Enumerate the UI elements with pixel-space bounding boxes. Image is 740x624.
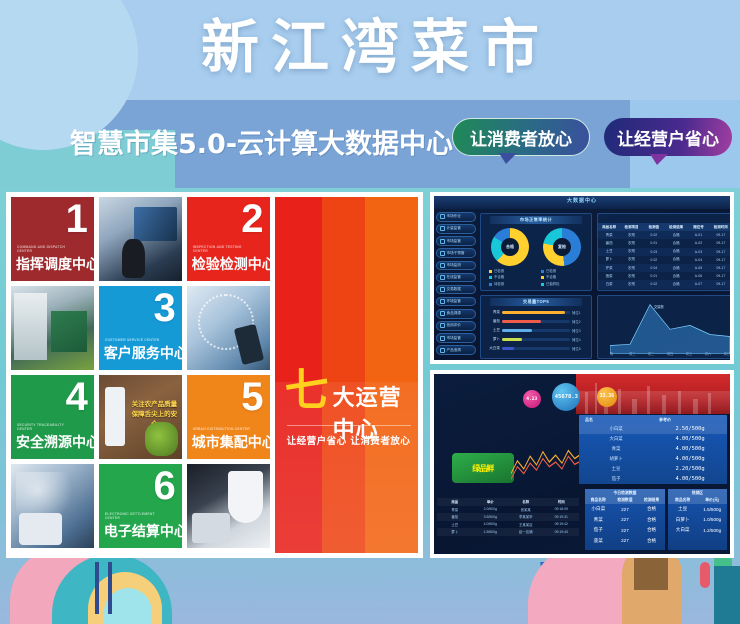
center-6-number: 6	[153, 466, 175, 506]
kpi-2-value: 45678.3	[555, 394, 578, 400]
center-6-label: 电子结算中心	[104, 521, 182, 541]
poster-header: 新江湾菜市 智慧市集5.0-云计算大数据中心 让消费者放心 让经营户省心	[0, 0, 740, 188]
transactions-cell: 青菜	[437, 507, 473, 512]
checks-cell: 227	[612, 538, 639, 543]
table-cell: 番茄	[598, 241, 620, 246]
hot-table-title: 热销区	[668, 489, 727, 497]
hot-row: 白萝卜1.0/500g	[668, 515, 727, 526]
checks-table-header: 商品名称检测数值检测结果	[585, 497, 665, 504]
hot-cell: 白萝卜	[668, 517, 698, 523]
bar-value: 摊位5	[572, 346, 590, 351]
axis-tick-label: 周一	[610, 351, 616, 356]
table-cell: 0.01	[643, 274, 665, 278]
bar-row: 土豆 摊位3	[484, 326, 590, 335]
table-row: 菠菜农残0.01合格A-0609-17	[598, 272, 730, 280]
center-tile-6[interactable]: 6 ELECTRONIC SETTLEMENT CENTER 电子结算中心	[99, 464, 182, 548]
detection-table-card: 商品名称检测项目检测值检测结果摊位号检测时间青菜农残0.02合格A-0109-1…	[597, 213, 730, 291]
bar-row: 萝卜 摊位4	[484, 335, 590, 344]
price-row-value: 4.00/500g	[653, 476, 727, 482]
table-cell: 0.02	[643, 282, 665, 286]
donut-chart-1: 合格	[491, 228, 529, 266]
table-cell: 合格	[665, 266, 687, 271]
skyline-building	[647, 386, 650, 414]
sidebar-item-label: 环境监管	[447, 299, 461, 304]
skyline-building	[708, 393, 711, 414]
table-cell: 合格	[665, 282, 687, 287]
ops-subtitle: 让经营户省心 让消费者放心	[287, 433, 411, 447]
price-row-name: 青菜	[579, 446, 653, 452]
table-cell: 菠菜	[598, 274, 620, 279]
transactions-cell: 09:18:09	[544, 507, 580, 511]
table-cell: 白菜	[598, 282, 620, 287]
transactions-row: 萝卜1.5/500g赵一店铺09:19:43	[437, 528, 579, 536]
center-4-number: 4	[66, 377, 88, 417]
table-cell: 09-17	[710, 258, 730, 262]
table-cell: A-06	[687, 274, 709, 278]
badge-consumer-label: 让消费者放心	[470, 125, 572, 150]
price-list-card: 品名 参考价 小白菜 2.50/500g 大白菜 4.00/500g 青菜 4.…	[579, 415, 727, 483]
price-row-value: 4.00/500g	[653, 446, 727, 452]
price-row[interactable]: 大白菜 4.00/500g	[579, 434, 727, 444]
photo-mobile-network	[187, 286, 270, 370]
table-cell: 0.02	[643, 233, 665, 237]
checks-cell: 合格	[638, 527, 665, 533]
sidebar-item-label: 在线监管	[447, 275, 461, 280]
bar-fill	[502, 329, 532, 332]
checks-cell: 227	[612, 528, 639, 533]
bar-track	[502, 338, 570, 341]
sidebar-item-icon	[440, 239, 445, 244]
price-row-name: 小白菜	[579, 426, 653, 432]
sidebar-item[interactable]: 计量监管	[436, 224, 476, 234]
bar-label: 萝卜	[484, 337, 500, 342]
checks-cell: 茄子	[585, 527, 612, 533]
sidebar-item-icon	[440, 336, 445, 341]
checks-cell: 227	[612, 507, 639, 512]
dashboard-top-screen: 大数据中心 市场作业 计量监管 市场监管 市场干预管 市场监测 在线监管 交易数…	[434, 196, 730, 360]
hot-table-header: 商品名称单价(元)	[668, 497, 727, 504]
transactions-header-cell: 时间	[544, 499, 580, 504]
dashboard-top-panel: 大数据中心 市场作业 计量监管 市场监管 市场干预管 市场监测 在线监管 交易数…	[430, 192, 734, 364]
hot-table-card: 热销区 商品名称单价(元) 土豆1.5/500g白萝卜1.0/500g大白菜1.…	[668, 489, 727, 550]
dashboard-header-bar: 大数据中心	[434, 196, 730, 209]
table-cell: 农残	[620, 233, 642, 238]
table-row: 萝卜农残0.02合格A-0409-17	[598, 256, 730, 264]
centers-panel: 1 COMMAND AND DISPATCH CENTER 指挥调度中心 2 I…	[6, 192, 423, 558]
price-col-name: 品名	[579, 415, 653, 424]
price-row-name: 土豆	[579, 466, 653, 472]
sidebar-item-label: 市场监管	[447, 239, 461, 244]
skyline-building	[678, 391, 681, 414]
center-6-english: ELECTRONIC SETTLEMENT CENTER	[105, 512, 167, 521]
donut-1-legend: 已检测不合格待检测	[489, 268, 504, 287]
hot-row: 土豆1.5/500g	[668, 504, 727, 515]
sidebar-item[interactable]: 信用评价	[436, 321, 476, 331]
center-1-label: 指挥调度中心	[16, 254, 94, 274]
table-cell: 合格	[665, 274, 687, 279]
bar-label: 大白菜	[484, 346, 500, 351]
food-safety-slogan: 关注农产品质量 保障舌尖上的安全	[130, 400, 178, 429]
table-row: 土豆农残0.03合格A-0309-17	[598, 248, 730, 256]
hot-cell: 大白菜	[668, 527, 698, 533]
ops-divider	[287, 425, 411, 426]
sidebar-item[interactable]: 市场干预管	[436, 248, 476, 258]
transactions-cell: 李某某甲	[508, 514, 544, 519]
table-cell: 农残	[620, 274, 642, 279]
table-cell: A-01	[687, 233, 709, 237]
sidebar-item[interactable]: 交易数据	[436, 285, 476, 295]
price-row-value: 4.00/500g	[653, 456, 727, 462]
kpi-bubble-1: 4.23	[523, 390, 541, 408]
transactions-cell: 3.5/500g	[472, 515, 508, 519]
table-cell: 09-17	[710, 282, 730, 286]
table-cell: A-04	[687, 258, 709, 262]
photo-network-people	[11, 464, 94, 548]
page-subtitle: 智慧市集5.0-云计算大数据中心	[70, 122, 453, 161]
table-cell: 青菜	[598, 233, 620, 238]
bar-track	[502, 311, 570, 314]
checks-cell: 合格	[638, 538, 665, 544]
sidebar-item-icon	[440, 214, 445, 219]
sidebar-item[interactable]: 市场监测	[436, 261, 476, 271]
center-4-english: SECURITY TRACEABILITY CENTER	[17, 423, 79, 432]
bar-chart: 青菜 摊位1 番茄 摊位2 土豆 摊位3 萝卜 摊位4 大白菜 摊位5	[484, 308, 590, 353]
table-cell: 0.02	[643, 258, 665, 262]
center-2-english: INSPECTION AND TESTING CENTER	[193, 245, 255, 254]
price-list-header: 品名 参考价	[579, 415, 727, 424]
axis-tick-label: 周五	[686, 351, 692, 356]
donut-chart-2: 复检	[543, 228, 581, 266]
price-row-name: 胡萝卜	[579, 456, 653, 462]
table-cell: A-02	[687, 241, 709, 245]
center-3-number: 3	[153, 288, 175, 328]
checks-cell: 小白菜	[585, 506, 612, 512]
table-cell: 0.01	[643, 241, 665, 245]
checks-cell: 菠菜	[585, 538, 612, 544]
photo-pos-terminal	[187, 464, 270, 548]
bars-card: 交易量TOP5 青菜 摊位1 番茄 摊位2 土豆 摊位3 萝卜 摊位4 大白菜 …	[480, 295, 592, 359]
donut-2-legend: 已检测不合格已抽样检	[541, 268, 560, 287]
checks-header-cell: 检测数值	[612, 498, 639, 503]
sidebar-item-label: 市场干预管	[447, 251, 465, 256]
center-5-label: 城市集配中心	[192, 432, 270, 452]
sidebar-item-icon	[440, 226, 445, 231]
checks-table-card: 今日检测数据 商品名称检测数值检测结果 小白菜227合格青菜227合格茄子227…	[585, 489, 665, 550]
checks-header-cell: 商品名称	[585, 498, 612, 503]
bar-fill	[502, 320, 541, 323]
illustration-accent-red	[700, 562, 710, 588]
price-row-value: 2.50/500g	[653, 426, 727, 432]
bar-row: 番茄 摊位2	[484, 317, 590, 326]
bar-value: 摊位3	[572, 328, 590, 333]
photo-command-room	[99, 197, 182, 281]
transactions-cell: 王某某店	[508, 522, 544, 527]
skyline-building	[693, 399, 698, 413]
checks-cell: 227	[612, 517, 639, 522]
center-2-number: 2	[241, 199, 263, 239]
sidebar-item-icon	[440, 287, 445, 292]
table-cell: A-03	[687, 250, 709, 254]
center-2-label: 检验检测中心	[192, 254, 270, 274]
table-cell: 土豆	[598, 249, 620, 254]
price-row-name: 大白菜	[579, 436, 653, 442]
table-header-cell: 商品名称	[598, 225, 620, 230]
area-x-labels: 周一周二周三周四周五周六周日	[610, 351, 730, 356]
transactions-cell: 张某某	[508, 507, 544, 512]
sidebar-item[interactable]: 市场监管	[436, 236, 476, 246]
sidebar-item-icon	[440, 323, 445, 328]
donut-1-label: 合格	[491, 228, 529, 266]
illustration-pole-1	[95, 562, 99, 614]
checks-row: 青菜227合格	[585, 515, 665, 526]
price-row-value: 2.20/500g	[653, 466, 727, 472]
sidebar-item-label: 计量监管	[447, 226, 461, 231]
hot-cell: 1.2/500g	[697, 528, 727, 533]
price-row-name: 茄子	[579, 476, 653, 482]
price-row-value: 4.00/500g	[653, 436, 727, 442]
checks-table-rows: 小白菜227合格青菜227合格茄子227合格菠菜227合格	[585, 504, 665, 546]
table-cell: 09-17	[710, 233, 730, 237]
sidebar-item[interactable]: 食品溯源	[436, 309, 476, 319]
bar-value: 摊位1	[572, 310, 590, 315]
sidebar-item[interactable]: 市场作业	[436, 212, 476, 222]
transactions-cell: 赵一店铺	[508, 529, 544, 534]
table-header-row: 商品名称检测项目检测值检测结果摊位号检测时间	[598, 223, 730, 231]
center-1-english: COMMAND AND DISPATCH CENTER	[17, 245, 79, 254]
bar-label: 青菜	[484, 310, 500, 315]
checks-header-cell: 检测结果	[638, 498, 665, 503]
transactions-cell: 2.0/500g	[472, 507, 508, 511]
price-col-value: 参考价	[653, 415, 727, 424]
table-row: 青菜农残0.02合格A-0109-17	[598, 231, 730, 239]
food-safety-line-1: 关注农产品质量	[130, 400, 178, 410]
table-cell: 农残	[620, 249, 642, 254]
center-tile-2[interactable]: 2 INSPECTION AND TESTING CENTER 检验检测中心	[187, 197, 270, 281]
photo-food-safety: 关注农产品质量 保障舌尖上的安全	[99, 375, 182, 459]
transactions-header-cell: 名称	[508, 499, 544, 504]
sidebar-item-label: 交易数据	[447, 287, 461, 292]
hot-table-rows: 土豆1.5/500g白萝卜1.0/500g大白菜1.2/500g	[668, 504, 727, 536]
hot-header-cell: 商品名称	[668, 498, 698, 503]
transactions-header-row: 商品单价名称时间	[437, 498, 579, 506]
illustration-pole-2	[108, 562, 112, 614]
sidebar-item-icon	[440, 251, 445, 256]
table-header-cell: 检测项目	[620, 225, 642, 230]
dashboard-title: 大数据中心	[567, 197, 597, 204]
table-cell: A-05	[687, 266, 709, 270]
bar-value: 摊位2	[572, 319, 590, 324]
axis-tick-label: 周四	[667, 351, 673, 356]
table-header-cell: 检测值	[643, 225, 665, 230]
poster-stage: 新江湾菜市 智慧市集5.0-云计算大数据中心 让消费者放心 让经营户省心 1 C…	[0, 0, 740, 624]
table-header-cell: 摊位号	[687, 225, 709, 230]
checks-row: 小白菜227合格	[585, 504, 665, 515]
legend-entry: 不合格	[489, 274, 504, 280]
axis-tick-label: 周六	[705, 351, 711, 356]
table-cell: 农残	[620, 241, 642, 246]
hot-title-text: 热销区	[668, 491, 727, 496]
sidebar-item-icon	[440, 263, 445, 268]
center-tile-5[interactable]: 5 URBAN DISTRIBUTION CENTER 城市集配中心	[187, 375, 270, 459]
brand-logo-text: 绿品鲜	[472, 463, 493, 474]
table-cell: 0.03	[643, 250, 665, 254]
legend-entry: 已抽样检	[541, 281, 560, 287]
checks-cell: 合格	[638, 517, 665, 523]
sidebar-item-icon	[440, 311, 445, 316]
sidebar-item-label: 产品追溯	[447, 348, 461, 353]
sidebar-item-label: 市场监管	[447, 336, 461, 341]
centers-grid: 1 COMMAND AND DISPATCH CENTER 指挥调度中心 2 I…	[11, 197, 270, 553]
transactions-header-cell: 单价	[472, 499, 508, 504]
price-row[interactable]: 土豆 2.20/500g	[579, 464, 727, 474]
checks-row: 菠菜227合格	[585, 536, 665, 547]
table-row: 芹菜农残0.04合格A-0509-17	[598, 264, 730, 272]
dashboard-sidebar: 市场作业 计量监管 市场监管 市场干预管 市场监测 在线监管 交易数据 环境监管…	[436, 211, 476, 356]
sidebar-item[interactable]: 环境监管	[436, 297, 476, 307]
hot-cell: 1.5/500g	[697, 507, 727, 512]
checks-cell: 合格	[638, 506, 665, 512]
table-row: 白菜农残0.02合格A-0709-17	[598, 280, 730, 288]
transactions-header-cell: 商品	[437, 499, 473, 504]
table-cell: 芹菜	[598, 266, 620, 271]
table-row: 番茄农残0.01合格A-0209-17	[598, 239, 730, 247]
price-row[interactable]: 小白菜 2.50/500g	[579, 424, 727, 434]
table-cell: 萝卜	[598, 257, 620, 262]
hot-row: 大白菜1.2/500g	[668, 525, 727, 536]
price-row[interactable]: 青菜 4.00/500g	[579, 444, 727, 454]
area-chart	[610, 302, 730, 354]
table-cell: 合格	[665, 257, 687, 262]
table-cell: 农残	[620, 282, 642, 287]
price-row[interactable]: 茄子 4.00/500g	[579, 474, 727, 484]
table-header-cell: 检测结果	[665, 225, 687, 230]
hot-header-cell: 单价(元)	[697, 498, 727, 503]
hot-cell: 土豆	[668, 506, 698, 512]
badge-merchant-label: 让经营户省心	[617, 125, 719, 150]
checks-table-title: 今日检测数据	[585, 489, 665, 497]
sidebar-item-icon	[440, 299, 445, 304]
table-cell: 合格	[665, 241, 687, 246]
badge-consumer: 让消费者放心	[452, 118, 590, 156]
skyline-building	[585, 392, 588, 414]
price-row[interactable]: 胡萝卜 4.00/500g	[579, 454, 727, 464]
bars-card-title: 交易量TOP5	[490, 298, 582, 306]
skyline-building	[662, 395, 666, 414]
skyline-building	[618, 389, 621, 414]
kpi-3-value: 33.36	[600, 394, 614, 399]
sidebar-item-icon	[440, 348, 445, 353]
transactions-row: 青菜2.0/500g张某某09:18:09	[437, 506, 579, 514]
donut-2-label: 复检	[543, 228, 581, 266]
center-tile-3[interactable]: 3 CUSTOMER SERVICE CENTER 客户服务中心	[99, 286, 182, 370]
donut-card: 市场正常率统计 合格 复检 已检测不合格待检测 已检测不合格已抽样检	[480, 213, 592, 291]
photo-market-aisle	[11, 286, 94, 370]
page-title: 新江湾菜市	[0, 18, 740, 76]
kpi-bubble-3: 33.36	[597, 387, 617, 407]
transactions-cell: 09:19:42	[544, 522, 580, 526]
dashboard-bottom-panel: 4.23 45678.3 33.36 绿品鲜 品名 参考价 小白菜	[430, 370, 734, 558]
illustration-edge-teal	[714, 566, 740, 624]
brand-logo: 绿品鲜	[452, 453, 514, 483]
transactions-cell: 土豆	[437, 522, 473, 527]
axis-tick-label: 周日	[724, 351, 730, 356]
food-safety-line-2: 保障舌尖上的安全	[130, 410, 178, 430]
center-1-number: 1	[66, 199, 88, 239]
skyline-building	[632, 399, 637, 414]
sidebar-item[interactable]: 市场监管	[436, 333, 476, 343]
transactions-cell: 番茄	[437, 514, 473, 519]
table-cell: A-07	[687, 282, 709, 286]
table-cell: 09-17	[710, 274, 730, 278]
bar-label: 土豆	[484, 328, 500, 333]
axis-tick-label: 周二	[629, 351, 635, 356]
center-5-number: 5	[241, 377, 263, 417]
detection-table: 商品名称检测项目检测值检测结果摊位号检测时间青菜农残0.02合格A-0109-1…	[598, 223, 730, 289]
ops-seven-char: 七	[285, 369, 329, 413]
table-cell: 农残	[620, 266, 642, 271]
transactions-row: 土豆4.0/500g王某某店09:19:42	[437, 521, 579, 529]
bar-row: 青菜 摊位1	[484, 308, 590, 317]
table-header-cell: 检测时间	[710, 225, 730, 230]
area-chart-card: 交易额 周一周二周三周四周五周六周日	[597, 295, 730, 359]
sidebar-item-icon	[440, 275, 445, 280]
bar-fill	[502, 338, 522, 341]
transactions-cell: 1.5/500g	[472, 530, 508, 534]
dashboard-bottom-screen: 4.23 45678.3 33.36 绿品鲜 品名 参考价 小白菜	[434, 374, 730, 554]
bar-label: 番茄	[484, 319, 500, 324]
checks-cell: 青菜	[585, 517, 612, 523]
transactions-cell: 萝卜	[437, 529, 473, 534]
transactions-cell: 09:19:31	[544, 515, 580, 519]
center-4-label: 安全溯源中心	[16, 432, 94, 452]
sidebar-item[interactable]: 产品追溯	[436, 345, 476, 355]
center-tile-1[interactable]: 1 COMMAND AND DISPATCH CENTER 指挥调度中心	[11, 197, 94, 281]
checks-row: 茄子227合格	[585, 525, 665, 536]
bar-fill	[502, 347, 514, 350]
table-cell: 合格	[665, 249, 687, 254]
sidebar-item-label: 市场监测	[447, 263, 461, 268]
table-cell: 09-17	[710, 266, 730, 270]
center-3-label: 客户服务中心	[104, 343, 182, 363]
operations-center-banner: 七 大运营中心 让经营户省心 让消费者放心	[275, 197, 418, 553]
checks-title-text: 今日检测数据	[585, 491, 665, 496]
sidebar-item-label: 信用评价	[447, 323, 461, 328]
center-tile-4[interactable]: 4 SECURITY TRACEABILITY CENTER 安全溯源中心	[11, 375, 94, 459]
kpi-1-value: 4.23	[526, 397, 537, 402]
axis-tick-label: 周三	[648, 351, 654, 356]
donut-card-title: 市场正常率统计	[490, 216, 582, 224]
bar-track	[502, 329, 570, 332]
table-cell: 09-17	[710, 241, 730, 245]
sidebar-item-label: 食品溯源	[447, 311, 461, 316]
table-cell: 农残	[620, 257, 642, 262]
transactions-row: 番茄3.5/500g李某某甲09:19:31	[437, 513, 579, 521]
sidebar-item[interactable]: 在线监管	[436, 273, 476, 283]
table-cell: 09-17	[710, 250, 730, 254]
transactions-cell: 09:19:43	[544, 530, 580, 534]
bar-row: 大白菜 摊位5	[484, 344, 590, 353]
table-cell: 0.04	[643, 266, 665, 270]
bar-track	[502, 347, 570, 350]
badge-merchant: 让经营户省心	[604, 118, 732, 156]
area-chart-title: 交易额	[654, 304, 664, 309]
bar-track	[502, 320, 570, 323]
hot-cell: 1.0/500g	[697, 517, 727, 522]
bar-fill	[502, 311, 565, 314]
subtitle-row: 智慧市集5.0-云计算大数据中心 让消费者放心 让经营户省心	[0, 118, 740, 168]
bar-value: 摊位4	[572, 337, 590, 342]
sidebar-item-label: 市场作业	[447, 214, 461, 219]
